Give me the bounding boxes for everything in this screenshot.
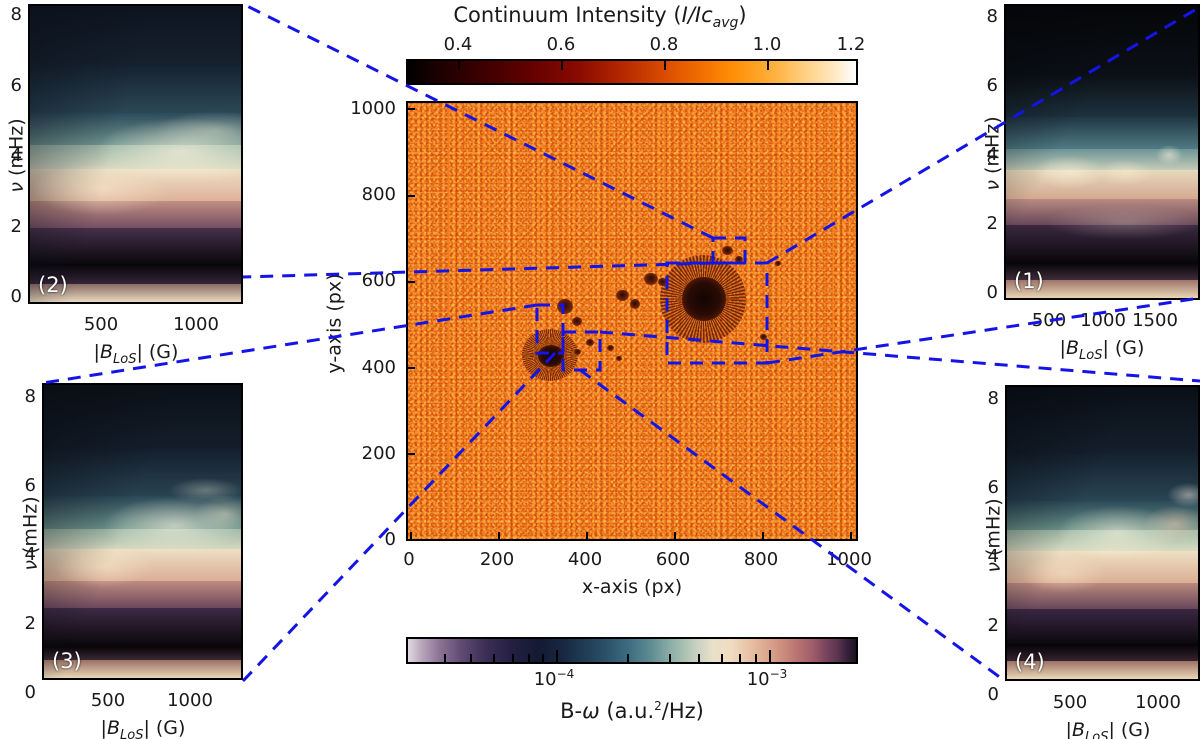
panel1-xtick-label: 1000 [1080, 312, 1126, 330]
panel3-ytick-label: 2 [25, 615, 36, 633]
cbar-title-close: ) [738, 3, 746, 27]
cbar-bot-exponent: −3 [770, 667, 788, 681]
cbar-bot-mantissa: 10 [534, 669, 557, 690]
cbar-title-ic: Ic [695, 3, 713, 27]
center-xtick-label: 200 [480, 551, 514, 569]
panel-label-2: (2) [38, 275, 68, 296]
blos-post: | (G) [136, 341, 178, 363]
cbar-title-sub: avg [713, 15, 739, 31]
panel2-xtick [198, 302, 200, 304]
blos-post: | (G) [143, 717, 185, 739]
pore [616, 356, 622, 361]
panel2-xtick [103, 302, 105, 304]
panel3-ytick [42, 535, 44, 537]
bomega-tail: /Hz) [662, 699, 704, 723]
panel3-xtick [110, 678, 112, 680]
bomega-heatmap-3 [44, 385, 241, 678]
cbar-bot-minor-tick [755, 654, 757, 662]
cbar-bot-minor-tick [542, 654, 544, 662]
bomega-panel-2[interactable]: (2) [28, 4, 243, 304]
panel3-xaxis-title: |BLoS| (G) [101, 719, 186, 739]
panel2-ytick [28, 228, 30, 230]
bomega-colorbar [406, 637, 858, 664]
panel1-xtick-label: 1500 [1132, 312, 1178, 330]
panel3-yaxis-title: ν (mHz) [22, 474, 41, 594]
blos-post: | (G) [1108, 719, 1150, 739]
blos-sub: LoS [113, 352, 136, 367]
panel1-xaxis-title: |BLoS| (G) [1060, 339, 1145, 362]
nu-unit: (mHz) [982, 116, 1004, 180]
bomega-heatmap-4 [1007, 387, 1198, 679]
center-ytick-label: 400 [362, 359, 396, 377]
panel4-ytick [1005, 606, 1007, 608]
panel3-ytick-label: 8 [25, 388, 36, 406]
panel2-ytick-label: 2 [11, 218, 22, 236]
cbar-bot-minor-tick [512, 654, 514, 662]
panel-label-4: (4) [1015, 652, 1045, 673]
pore [644, 273, 658, 285]
umbra [538, 345, 564, 367]
cbar-bot-exponent: −4 [557, 667, 575, 681]
panel2-yaxis-title: ν (mHz) [8, 96, 27, 216]
omega-symbol: ω [582, 699, 600, 723]
cbar-bot-minor-tick [528, 654, 530, 662]
panel1-ytick [1004, 294, 1006, 296]
center-xtick-label: 400 [568, 551, 602, 569]
panel1-xtick-label: 500 [1032, 312, 1066, 330]
panel-label-3: (3) [52, 651, 82, 672]
cbar-bot-minor-tick [470, 654, 472, 662]
center-xtick-label: 0 [403, 551, 414, 569]
panel3-ytick [42, 673, 44, 675]
panel2-ytick [28, 87, 30, 89]
center-yaxis-title: y-axis (px) [326, 264, 345, 384]
panel2-xaxis-title: |BLoS| (G) [94, 343, 179, 366]
bomega-panel-1[interactable]: (1) [1004, 4, 1200, 300]
blos-sub: LoS [1079, 348, 1102, 363]
bomega-post: (a.u. [600, 699, 654, 723]
cbar-top-tickmark [767, 61, 769, 70]
cbar-bot-minor-tick [721, 654, 723, 662]
pore [607, 345, 614, 351]
panel1-xtick [1051, 298, 1053, 300]
continuum-colorbar-gradient [408, 61, 856, 83]
blos-b: B [107, 717, 120, 739]
center-ytick [408, 281, 415, 283]
panel2-ytick [28, 157, 30, 159]
cbar-top-tickmark [561, 61, 563, 70]
center-xtick [498, 532, 500, 539]
panel2-xtick-label: 500 [84, 316, 118, 334]
panel4-yaxis-title: ν (mHz) [985, 476, 1004, 596]
center-ytick [408, 367, 415, 369]
bomega-heatmap-1 [1006, 6, 1198, 298]
panel2-ytick [28, 16, 30, 18]
center-xtick [586, 532, 588, 539]
panel-label-1: (1) [1014, 271, 1044, 292]
panel3-xtick-label: 500 [91, 692, 125, 710]
panel1-ytick [1004, 87, 1006, 89]
pore [658, 278, 667, 286]
cbar-bot-minor-tick [698, 654, 700, 662]
cbar-bot-minor-tick [444, 654, 446, 662]
nu-symbol: ν [6, 182, 28, 193]
sunspot-medium [522, 329, 578, 381]
cbar-bot-minor-tick [627, 654, 629, 662]
pore [630, 299, 640, 309]
bomega-heatmap-2 [30, 6, 241, 302]
center-ytick-label: 0 [385, 531, 396, 549]
panel4-ytick [1005, 399, 1007, 401]
center-ytick-label: 200 [362, 445, 396, 463]
pore [572, 317, 582, 326]
cbar-bot-minor-tick [669, 654, 671, 662]
continuum-colorbar-title: Continuum Intensity (I/Icavg) [453, 5, 746, 30]
panel3-ytick-label: 0 [25, 684, 36, 702]
granulation-texture-fine [408, 103, 856, 539]
panel4-xaxis-title: |BLoS| (G) [1066, 721, 1151, 739]
bomega-panel-3[interactable]: (3) [42, 383, 243, 680]
figure-root: Continuum Intensity (I/Icavg) 0.4 0.6 0.… [0, 0, 1200, 739]
cbar-top-tickmark [458, 61, 460, 70]
nu-symbol: ν [20, 560, 42, 571]
pore [722, 246, 733, 255]
blos-sub: LoS [120, 728, 143, 739]
continuum-colorbar [406, 59, 858, 85]
panel4-ytick [1005, 537, 1007, 539]
panel4-ytick [1005, 675, 1007, 677]
cbar-bot-mantissa: 10 [747, 669, 770, 690]
panel1-ytick-label: 6 [987, 77, 998, 95]
panel2-ytick-label: 6 [11, 77, 22, 95]
bomega-colorbar-gradient [408, 639, 856, 662]
center-xtick [674, 532, 676, 539]
panel4-ytick-label: 0 [988, 686, 999, 704]
panel1-xtick [1153, 298, 1155, 300]
nu-symbol: ν [982, 180, 1004, 191]
panel2-ytick-label: 8 [11, 6, 22, 24]
center-ytick [408, 108, 415, 110]
cbar-top-tick-4: 1.2 [837, 36, 866, 54]
pore [557, 299, 573, 314]
panel1-ytick-label: 2 [987, 215, 998, 233]
pore [775, 261, 781, 266]
cbar-bot-minor-tick [739, 654, 741, 662]
panel2-ytick [28, 298, 30, 300]
center-ytick-label: 800 [362, 186, 396, 204]
nu-symbol: ν [983, 562, 1005, 573]
cbar-top-tick-1: 0.6 [547, 36, 576, 54]
panel4-ytick [1005, 468, 1007, 470]
sunspot-large [660, 255, 746, 343]
pore [616, 290, 629, 301]
panel3-ytick [42, 604, 44, 606]
panel1-ytick [1004, 225, 1006, 227]
center-ytick [408, 540, 415, 541]
blos-b: B [100, 341, 113, 363]
nu-unit: (mHz) [6, 118, 28, 182]
center-xtick-label: 1000 [826, 551, 872, 569]
cbar-top-tickmark [664, 61, 666, 70]
center-ytick [408, 195, 415, 197]
center-ytick [408, 453, 415, 455]
panel1-xtick [1102, 298, 1104, 300]
pore [574, 349, 581, 355]
bomega-colorbar-title: B-ω (a.u.2/Hz) [560, 700, 704, 722]
cbar-top-tick-0: 0.4 [444, 36, 473, 54]
nu-unit: (mHz) [983, 498, 1005, 562]
cbar-bot-minor-tick [493, 654, 495, 662]
panel4-xtick [1072, 679, 1074, 681]
cbar-bot-tick-label: 10−4 [534, 668, 575, 689]
panel1-ytick [1004, 18, 1006, 20]
center-ytick-label: 600 [362, 272, 396, 290]
cbar-bot-major-tick [556, 650, 558, 662]
blos-post: | (G) [1102, 337, 1144, 359]
continuum-map[interactable] [406, 101, 858, 541]
bomega-panel-4[interactable]: (4) [1005, 385, 1200, 681]
center-ytick-label: 1000 [350, 100, 396, 118]
blos-b: B [1072, 719, 1085, 739]
bomega-sup: 2 [654, 699, 662, 713]
pore [760, 334, 767, 340]
center-xtick-label: 800 [744, 551, 778, 569]
panel1-yaxis-title: ν (mHz) [984, 94, 1003, 214]
center-xtick [762, 532, 764, 539]
center-xtick-label: 600 [656, 551, 690, 569]
panel3-ytick [42, 466, 44, 468]
center-xaxis-title: x-axis (px) [582, 578, 682, 597]
cbar-title-slash: / [688, 3, 695, 27]
cbar-bot-tick-label: 10−3 [747, 668, 788, 689]
panel4-xtick [1160, 679, 1162, 681]
umbra [682, 277, 726, 321]
cbar-title-main: Continuum Intensity ( [453, 3, 681, 27]
panel1-ytick-label: 8 [987, 8, 998, 26]
cbar-top-tick-3: 1.0 [753, 36, 782, 54]
cbar-top-tick-2: 0.8 [650, 36, 679, 54]
panel1-ytick [1004, 156, 1006, 158]
cbar-bot-major-tick [769, 650, 771, 662]
panel2-ytick-label: 0 [11, 288, 22, 306]
bomega-pre: B- [560, 699, 582, 723]
blos-sub: LoS [1085, 730, 1108, 739]
panel3-xtick [192, 678, 194, 680]
panel4-ytick-label: 2 [988, 617, 999, 635]
panel2-xtick-label: 1000 [173, 316, 219, 334]
panel4-xtick-label: 500 [1053, 694, 1087, 712]
pore [586, 339, 594, 346]
center-xtick [850, 532, 852, 539]
panel4-xtick-label: 1000 [1135, 694, 1181, 712]
panel4-ytick-label: 8 [988, 390, 999, 408]
panel1-ytick-label: 0 [987, 284, 998, 302]
blos-b: B [1066, 337, 1079, 359]
pore [735, 256, 743, 263]
nu-unit: (mHz) [20, 496, 42, 560]
panel3-ytick [42, 397, 44, 399]
center-xtick [410, 532, 412, 539]
panel3-xtick-label: 1000 [167, 692, 213, 710]
